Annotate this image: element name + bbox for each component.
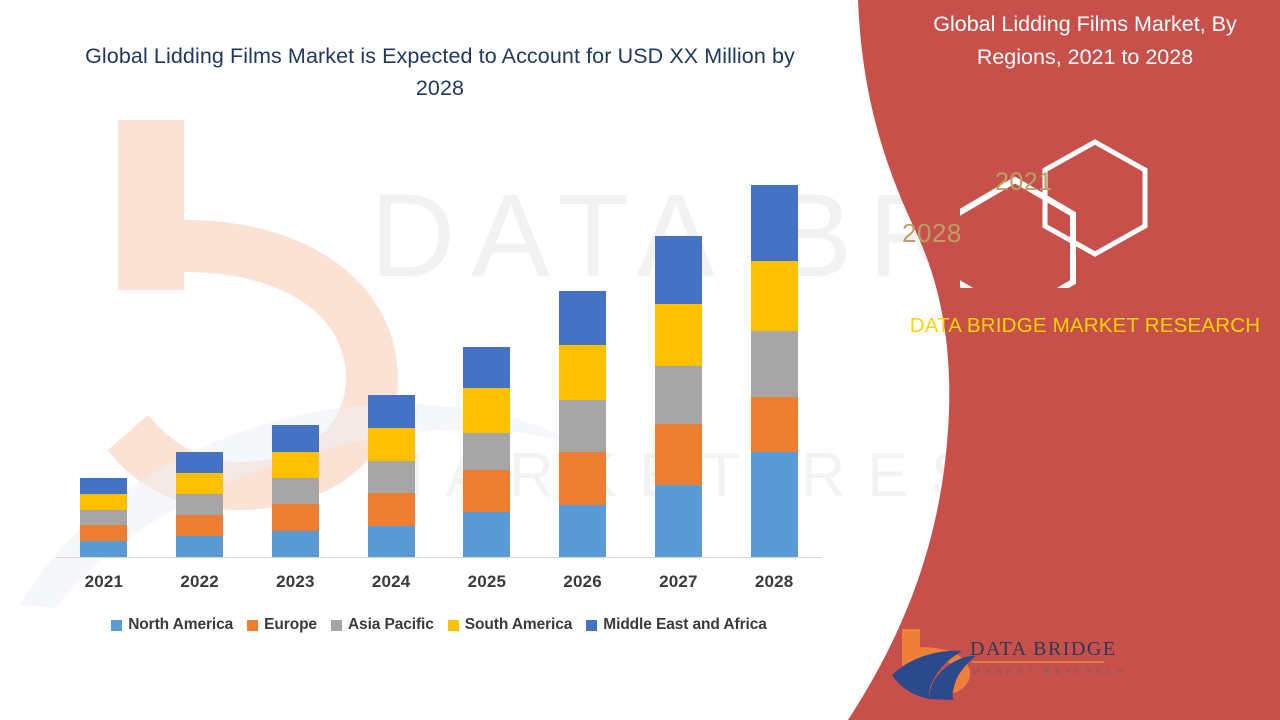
legend-label: Asia Pacific — [348, 616, 434, 634]
bar-stack — [368, 395, 415, 557]
legend-item[interactable]: Asia Pacific — [331, 616, 434, 634]
bar-segment — [176, 515, 223, 536]
bar-column — [248, 157, 344, 557]
bar-group — [56, 157, 822, 557]
bar-stack — [272, 425, 319, 557]
bar-segment — [80, 478, 127, 494]
bar-segment — [368, 493, 415, 526]
bar-segment — [463, 433, 510, 470]
hexagon-badges — [960, 138, 1190, 288]
panel-title: Global Lidding Films Market, By Regions,… — [890, 8, 1280, 74]
bar-segment — [272, 478, 319, 504]
bar-segment — [176, 452, 223, 473]
bar-segment — [655, 366, 702, 424]
legend-swatch-icon — [448, 620, 459, 631]
bar-column — [343, 157, 439, 557]
bar-stack — [176, 452, 223, 557]
bar-segment — [176, 536, 223, 557]
bar-segment — [176, 473, 223, 494]
slide-canvas: DATA BRIDGE MARKET RESEARCH Global Liddi… — [0, 0, 1280, 720]
bar-stack — [80, 478, 127, 557]
bar-segment — [368, 526, 415, 557]
bar-segment — [751, 452, 798, 557]
bar-segment — [655, 236, 702, 304]
legend-label: Middle East and Africa — [603, 616, 766, 634]
bar-segment — [272, 531, 319, 557]
bar-column — [535, 157, 631, 557]
bar-column — [726, 157, 822, 557]
bar-segment — [751, 397, 798, 452]
logo-text-main: DATA BRIDGE — [970, 638, 1117, 661]
bar-segment — [272, 504, 319, 531]
bar-stack — [463, 347, 510, 557]
bar-segment — [368, 428, 415, 461]
legend-swatch-icon — [586, 620, 597, 631]
logo-divider — [972, 661, 1104, 663]
bar-segment — [559, 452, 606, 505]
hex-label-start: 2021 — [995, 168, 1053, 197]
x-axis-tick: 2027 — [631, 572, 727, 592]
bar-segment — [176, 494, 223, 515]
logo-text-sub: MARKET RESEARCH — [972, 666, 1128, 676]
bar-segment — [272, 425, 319, 452]
bar-segment — [559, 505, 606, 557]
x-axis-tick: 2021 — [56, 572, 152, 592]
legend-label: Europe — [264, 616, 317, 634]
bar-segment — [463, 388, 510, 433]
bar-segment — [655, 485, 702, 557]
legend-swatch-icon — [331, 620, 342, 631]
bar-segment — [80, 510, 127, 525]
bar-segment — [80, 494, 127, 510]
x-axis-tick: 2026 — [535, 572, 631, 592]
bar-stack — [751, 185, 798, 557]
x-axis-tick: 2024 — [343, 572, 439, 592]
bar-segment — [368, 461, 415, 493]
bar-column — [56, 157, 152, 557]
bar-segment — [368, 395, 415, 428]
chart-baseline — [56, 557, 822, 558]
data-bridge-logo-icon — [890, 625, 1110, 700]
bar-stack — [655, 236, 702, 557]
bar-segment — [463, 347, 510, 388]
x-axis-labels: 20212022202320242025202620272028 — [56, 572, 822, 592]
chart-legend: North AmericaEuropeAsia PacificSouth Ame… — [56, 616, 822, 634]
bar-segment — [272, 452, 319, 478]
legend-item[interactable]: Europe — [247, 616, 317, 634]
bar-segment — [655, 424, 702, 485]
x-axis-tick: 2025 — [439, 572, 535, 592]
x-axis-tick: 2023 — [248, 572, 344, 592]
legend-label: South America — [465, 616, 573, 634]
bar-column — [152, 157, 248, 557]
bar-column — [631, 157, 727, 557]
bar-segment — [751, 261, 798, 331]
legend-item[interactable]: North America — [111, 616, 233, 634]
legend-swatch-icon — [247, 620, 258, 631]
x-axis-tick: 2022 — [152, 572, 248, 592]
chart-plot-area — [56, 150, 822, 558]
legend-item[interactable]: Middle East and Africa — [586, 616, 766, 634]
panel-content: Global Lidding Films Market, By Regions,… — [880, 0, 1280, 720]
hex-label-end: 2028 — [902, 218, 962, 249]
legend-label: North America — [128, 616, 233, 634]
bar-segment — [559, 400, 606, 452]
bar-segment — [559, 291, 606, 345]
bar-column — [439, 157, 535, 557]
bar-segment — [463, 512, 510, 557]
bar-segment — [559, 345, 606, 400]
bar-segment — [463, 470, 510, 512]
x-axis-tick: 2028 — [726, 572, 822, 592]
legend-swatch-icon — [111, 620, 122, 631]
bar-segment — [80, 541, 127, 557]
bar-segment — [80, 525, 127, 541]
bar-stack — [559, 291, 606, 557]
brand-name: DATA BRIDGE MARKET RESEARCH — [900, 310, 1270, 342]
hexagon-outline-icon — [960, 138, 1190, 288]
bar-segment — [751, 331, 798, 397]
chart-title: Global Lidding Films Market is Expected … — [60, 40, 820, 104]
bar-segment — [655, 304, 702, 366]
bar-segment — [751, 185, 798, 261]
legend-item[interactable]: South America — [448, 616, 573, 634]
